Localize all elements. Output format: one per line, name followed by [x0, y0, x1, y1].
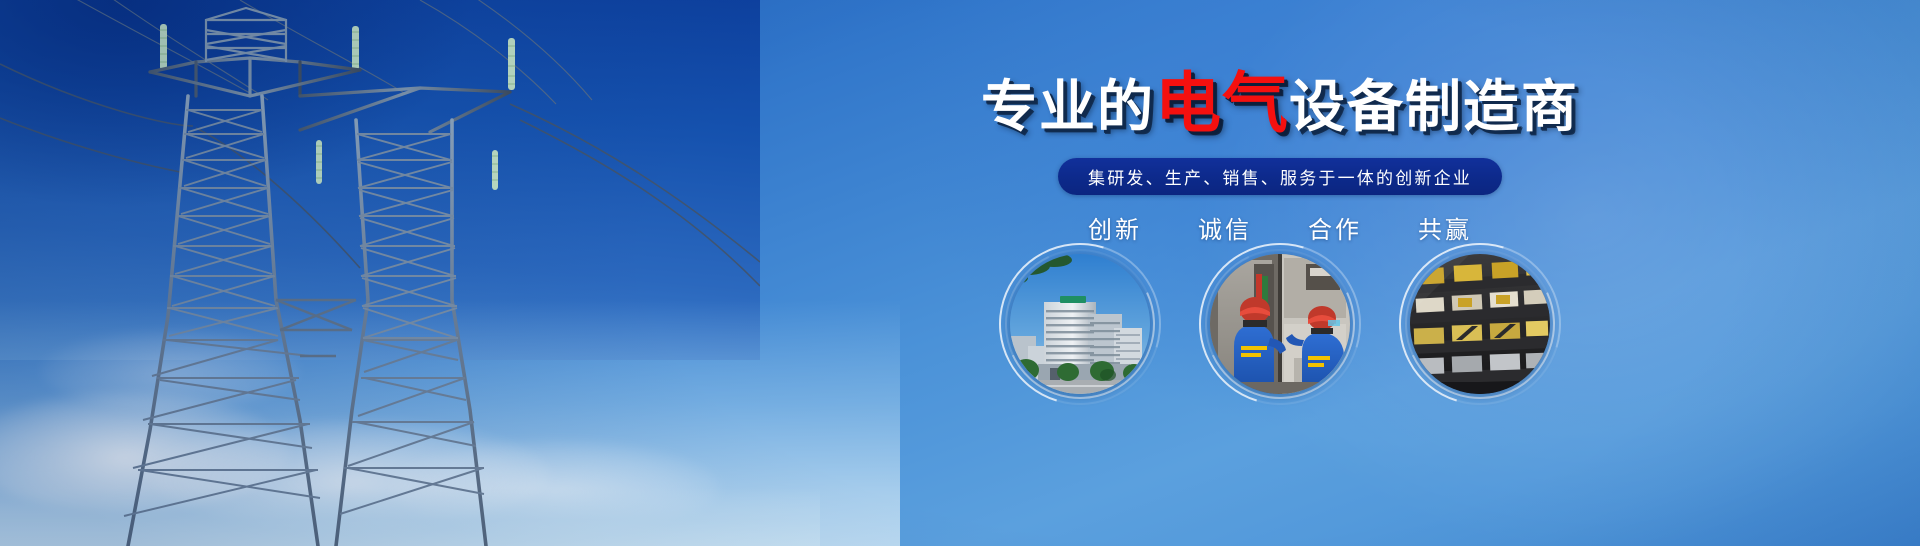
photo-gallery	[640, 254, 1920, 394]
keyword-innovation: 创新	[1088, 210, 1142, 245]
office-building-photo[interactable]	[1010, 254, 1150, 394]
photo-cell-building	[1010, 254, 1150, 394]
electrical-panels-photo[interactable]	[1410, 254, 1550, 394]
keyword-list: 创新 诚信 合作 共赢	[640, 210, 1920, 245]
workers-installation-photo[interactable]	[1210, 254, 1350, 394]
keyword-cooperation: 合作	[1308, 210, 1362, 245]
keyword-integrity: 诚信	[1198, 210, 1252, 245]
tagline-pill: 集研发、生产、销售、服务于一体的创新企业	[1058, 158, 1502, 195]
banner-content: 专业的电气设备制造商 集研发、生产、销售、服务于一体的创新企业 创新 诚信 合作…	[640, 0, 1920, 546]
headline-highlight: 电气	[1155, 66, 1289, 140]
headline-part-2: 设备制造商	[1289, 75, 1579, 138]
photo-cell-workers	[1210, 254, 1350, 394]
keyword-winwin: 共赢	[1418, 210, 1472, 245]
hero-banner: 专业的电气设备制造商 集研发、生产、销售、服务于一体的创新企业 创新 诚信 合作…	[0, 0, 1920, 546]
headline-part-1: 专业的	[981, 75, 1155, 138]
tagline-text: 集研发、生产、销售、服务于一体的创新企业	[1088, 164, 1472, 189]
banner-headline: 专业的电气设备制造商	[640, 70, 1920, 136]
photo-cell-panels	[1410, 254, 1550, 394]
